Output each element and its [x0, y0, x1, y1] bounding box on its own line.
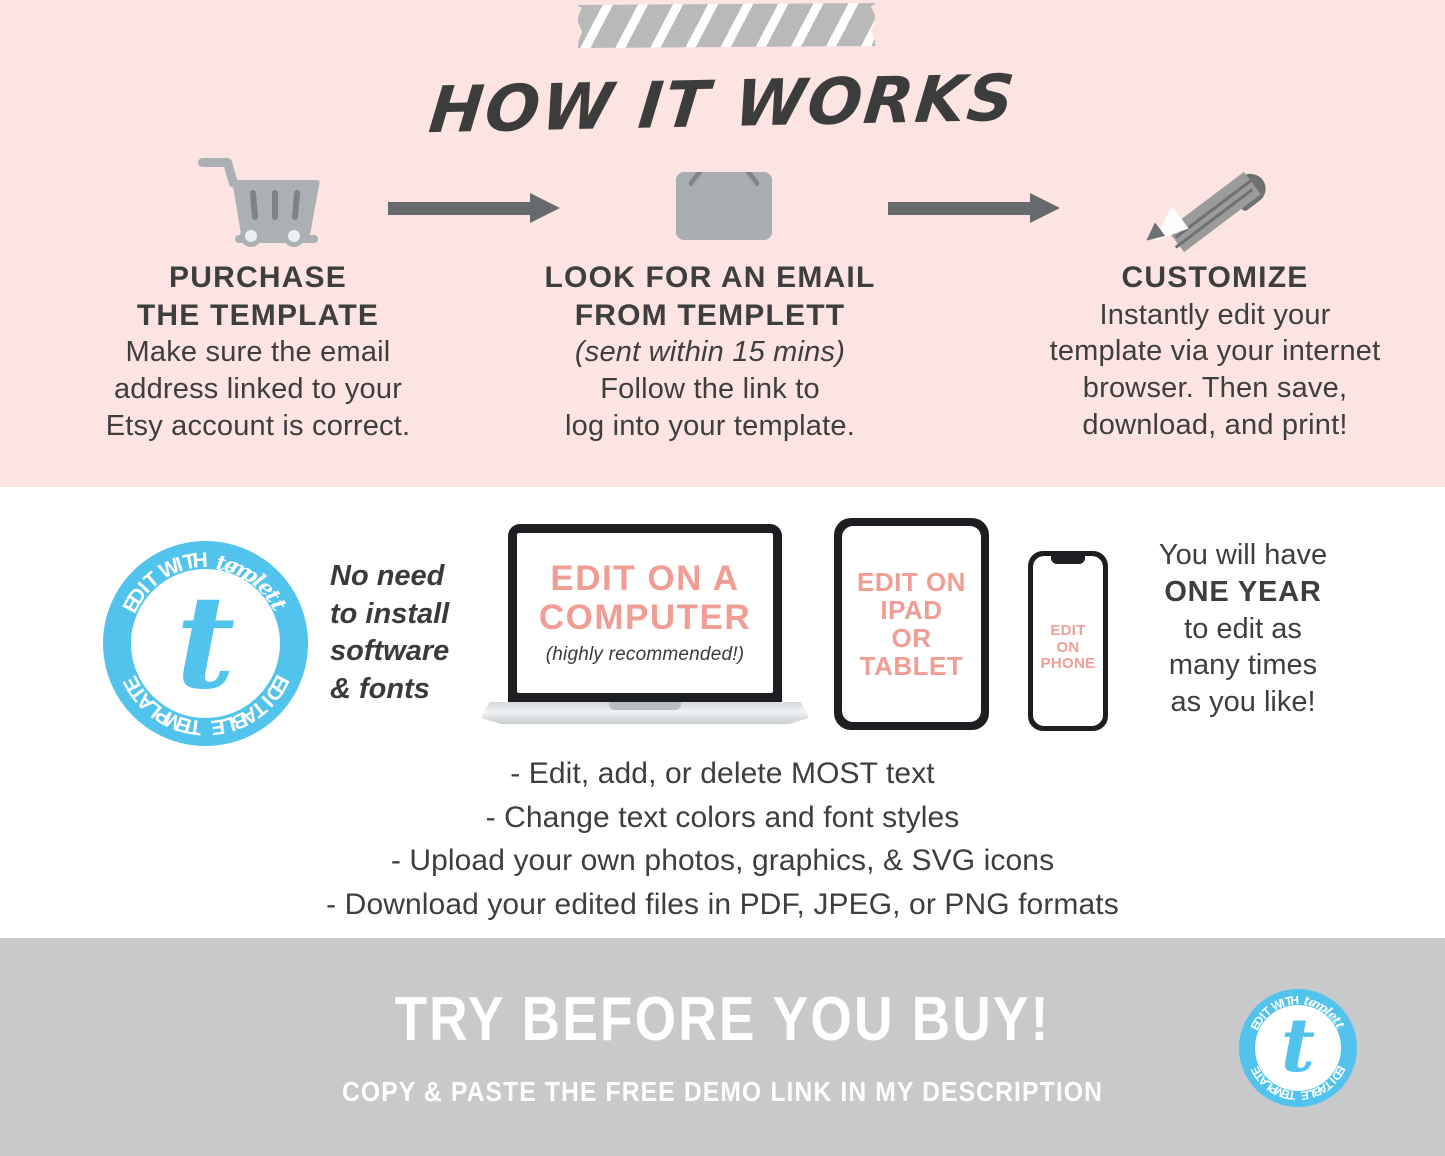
one-year-line3: to edit as — [1118, 611, 1368, 648]
step3-body-line1: Instantly edit your — [985, 297, 1445, 334]
step2-heading-line2: FROM TEMPLETT — [490, 297, 930, 335]
laptop-label-line2: COMPUTER — [539, 599, 751, 638]
step3-body-line4: download, and print! — [985, 407, 1445, 444]
tablet-label-line1: EDIT ON — [857, 568, 966, 596]
one-year-line4: many times — [1118, 647, 1368, 684]
one-year-line1: You will have — [1118, 537, 1368, 574]
step-customize: CUSTOMIZE Instantly edit your template v… — [985, 259, 1445, 444]
step2-body-line3: log into your template. — [490, 408, 930, 445]
step1-heading-line1: PURCHASE — [58, 259, 458, 297]
try-before-you-buy-banner: TRY BEFORE YOU BUY! COPY & PASTE THE FRE… — [0, 938, 1445, 1156]
arrow-right-icon — [388, 193, 560, 223]
step3-heading-line1: CUSTOMIZE — [985, 259, 1445, 297]
step2-body-italic: (sent within 15 mins) — [490, 334, 930, 371]
step3-body-line2: template via your internet — [985, 333, 1445, 370]
one-year-highlight: ONE YEAR — [1118, 574, 1368, 611]
one-year-note: You will have ONE YEAR to edit as many t… — [1118, 537, 1368, 721]
phone-mockup: EDIT ON PHONE — [1028, 551, 1108, 731]
phone-label-line3: PHONE — [1041, 656, 1096, 673]
no-install-line3: software — [330, 633, 495, 671]
step3-body-line3: browser. Then save, — [985, 370, 1445, 407]
step-purchase: PURCHASE THE TEMPLATE Make sure the emai… — [58, 259, 458, 444]
no-install-line1: No need — [330, 558, 495, 596]
one-year-line5: as you like! — [1118, 684, 1368, 721]
step2-body-line2: Follow the link to — [490, 371, 930, 408]
list-item: - Upload your own photos, graphics, & SV… — [0, 839, 1445, 883]
phone-label-line2: ON — [1041, 640, 1096, 657]
list-item: - Change text colors and font styles — [0, 796, 1445, 840]
page-title: HOW IT WORKS — [0, 53, 1445, 157]
step1-heading-line2: THE TEMPLATE — [58, 297, 458, 335]
feature-bullet-list: - Edit, add, or delete MOST text - Chang… — [0, 752, 1445, 926]
envelope-icon — [676, 172, 772, 240]
templett-t-letter: t — [103, 579, 308, 707]
no-install-note: No need to install software & fonts — [330, 558, 495, 709]
phone-notch — [1051, 556, 1085, 564]
list-item: - Download your edited files in PDF, JPE… — [0, 883, 1445, 927]
laptop-mockup: EDIT ON A COMPUTER (highly recommended!) — [481, 524, 809, 730]
templett-badge-logo-small: EDIT WITH templettEDITABLE TEMPLATE t — [1239, 989, 1357, 1107]
step1-body-line3: Etsy account is correct. — [58, 408, 458, 445]
footer-title: TRY BEFORE YOU BUY! — [101, 984, 1344, 1055]
how-it-works-section: HOW IT WORKS — [0, 0, 1445, 487]
tablet-label-line2: IPAD — [857, 596, 966, 624]
step1-body-line1: Make sure the email — [58, 334, 458, 371]
templett-badge-logo: EDIT WITH templettEDITABLE TEMPLATE t — [103, 541, 308, 746]
no-install-line4: & fonts — [330, 671, 495, 709]
templett-t-letter: t — [1239, 1009, 1357, 1083]
step1-body-line2: address linked to your — [58, 371, 458, 408]
list-item: - Edit, add, or delete MOST text — [0, 752, 1445, 796]
step-email: LOOK FOR AN EMAIL FROM TEMPLETT (sent wi… — [490, 259, 930, 444]
washi-tape-icon — [578, 3, 875, 48]
footer-subtitle: COPY & PASTE THE FREE DEMO LINK IN MY DE… — [87, 1076, 1359, 1108]
tablet-label-line3: OR — [857, 624, 966, 652]
tablet-label-line4: TABLET — [857, 652, 966, 680]
step2-heading-line1: LOOK FOR AN EMAIL — [490, 259, 930, 297]
infographic-page: HOW IT WORKS — [0, 0, 1445, 1156]
no-install-line2: to install — [330, 596, 495, 634]
arrow-right-icon — [888, 193, 1060, 223]
tablet-mockup: EDIT ON IPAD OR TABLET — [834, 518, 989, 730]
pencil-icon — [1140, 160, 1270, 252]
shopping-cart-icon — [198, 152, 318, 250]
phone-label-line1: EDIT — [1041, 623, 1096, 640]
laptop-note: (highly recommended!) — [546, 644, 745, 666]
laptop-label-line1: EDIT ON A — [539, 560, 751, 599]
